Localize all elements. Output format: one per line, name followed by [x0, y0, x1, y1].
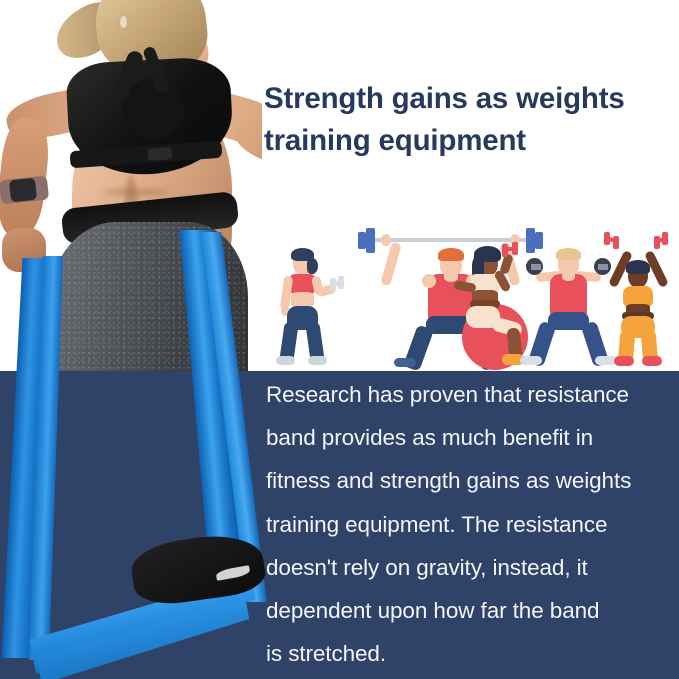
fig4-dumbbell-right-bar [598, 264, 608, 270]
body-line-1: Research has proven that resistance [266, 373, 672, 416]
product-infographic: Strength gains as weights training equip… [0, 0, 679, 679]
fig4-shoe-left [520, 356, 542, 365]
earring [120, 16, 127, 28]
fig1-shoe-left [276, 356, 295, 365]
body-line-5: doesn't rely on gravity, instead, it [266, 546, 672, 589]
fig2-plate-left-outer [358, 232, 366, 249]
body-line-2: band provides as much benefit in [266, 416, 672, 459]
fig5-shoe-left [614, 356, 634, 366]
wristwatch-face [9, 178, 37, 203]
fig2-arm-left [380, 241, 402, 286]
fig1-shoe-right [308, 356, 327, 365]
fig5-hair [626, 260, 650, 274]
title-line-1: Strength gains as weights [264, 78, 664, 120]
fig2-hand-left [381, 234, 391, 246]
body-line-6: dependent upon how far the band [266, 589, 672, 632]
sports-bra-clip [148, 147, 173, 161]
fig4-dumbbell-left-bar [531, 264, 541, 270]
page-title: Strength gains as weights training equip… [264, 78, 664, 162]
abs-shadow-upper [103, 188, 169, 196]
fig3-dumbbell-bar [507, 247, 514, 251]
fig2-plate-right-inner [526, 228, 535, 253]
exercise-illustration-strip [262, 216, 679, 372]
fig4-neckline [562, 273, 575, 281]
body-line-3: fitness and strength gains as weights [266, 459, 672, 502]
body-line-7: is stretched. [266, 632, 672, 675]
fig4-hair [556, 248, 581, 260]
fig5-shoe-right [642, 356, 662, 366]
fig2-shoulder-left [422, 274, 436, 288]
fig2-barbell-bar [372, 238, 530, 242]
fig1-dumbbell-bar [334, 281, 341, 286]
fig2-shoe-left [394, 358, 416, 367]
fig2-hair [438, 248, 464, 261]
title-line-2: training equipment [264, 120, 664, 162]
body-line-4: training equipment. The resistance [266, 503, 672, 546]
fig1-hair-back [307, 258, 318, 274]
description-paragraph: Research has proven that resistance band… [266, 373, 672, 675]
fig2-plate-left-inner [366, 228, 375, 253]
fig2-plate-right-outer [535, 232, 543, 249]
